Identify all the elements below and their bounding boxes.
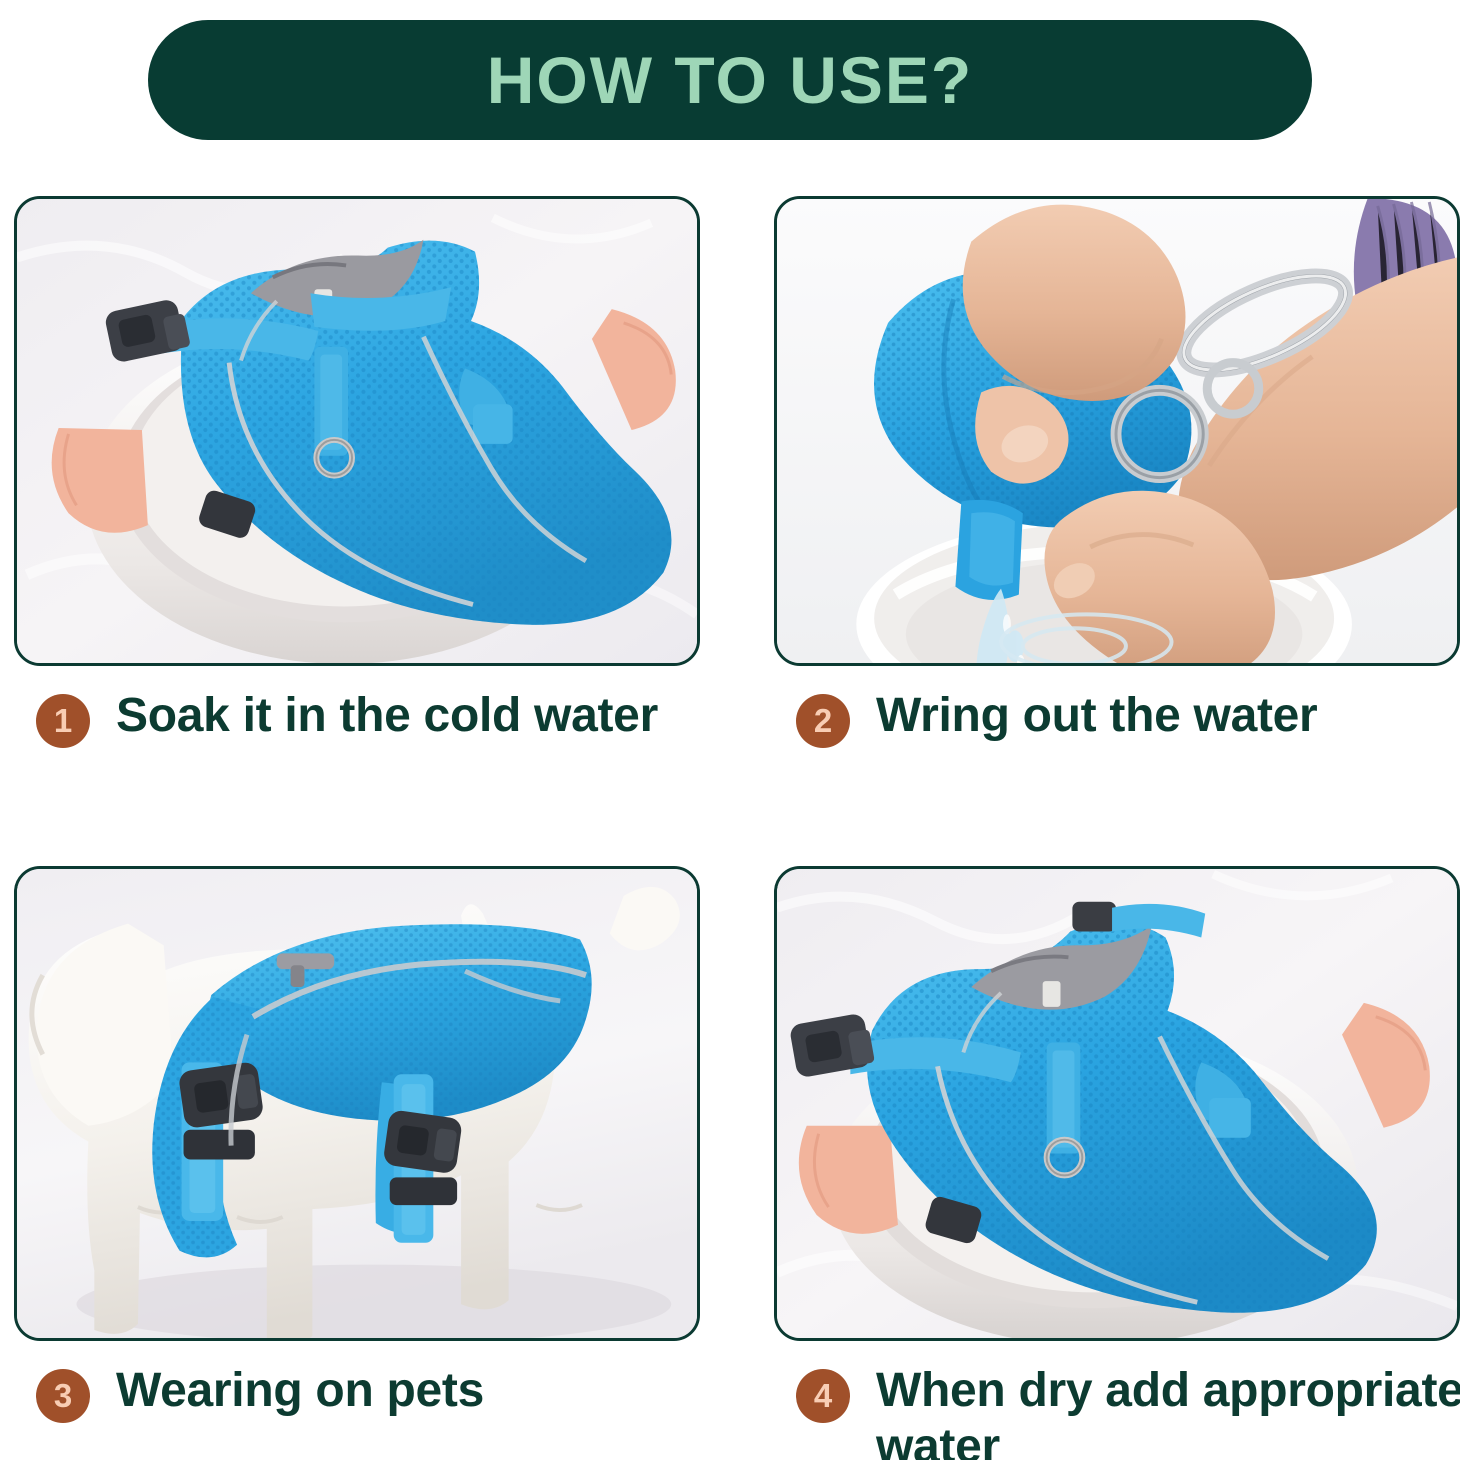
harness-in-basin-illustration: [17, 199, 697, 663]
step-3-caption-cell: 3 Wearing on pets: [14, 1341, 714, 1460]
step-4-caption-row: 4 When dry add appropriate water: [774, 1341, 1460, 1460]
step-3-caption-text: Wearing on pets: [116, 1363, 484, 1419]
step-1-photo-frame: [14, 196, 700, 666]
step-1-caption-row: 1 Soak it in the cold water: [14, 666, 714, 748]
step-3-photo-frame: [14, 866, 700, 1341]
dog-wearing-harness-illustration: [17, 869, 697, 1338]
step-3-badge: 3: [36, 1369, 90, 1423]
step-2-photo-frame: [774, 196, 1460, 666]
steps-grid: 1 Soak it in the cold water 2 Wring out …: [0, 196, 1460, 1460]
step-1-caption-cell: 1 Soak it in the cold water: [14, 666, 714, 866]
step-1-badge: 1: [36, 694, 90, 748]
step-4-photo-cell: [774, 866, 1460, 1341]
step-4-caption-cell: 4 When dry add appropriate water: [774, 1341, 1460, 1460]
infographic-page: HOW TO USE?: [0, 0, 1460, 1460]
step-1-photo-cell: [14, 196, 714, 666]
step-2-caption-cell: 2 Wring out the water: [774, 666, 1460, 866]
step-2-badge: 2: [796, 694, 850, 748]
step-4-photo-frame: [774, 866, 1460, 1341]
page-title: HOW TO USE?: [487, 47, 973, 113]
step-2-caption-row: 2 Wring out the water: [774, 666, 1460, 748]
hands-wringing-illustration: [777, 199, 1457, 663]
step-1-caption-text: Soak it in the cold water: [116, 688, 658, 744]
step-2-caption-text: Wring out the water: [876, 688, 1317, 744]
step-3-photo-cell: [14, 866, 714, 1341]
harness-in-basin-2-illustration: [777, 869, 1457, 1338]
step-3-caption-row: 3 Wearing on pets: [14, 1341, 714, 1423]
step-4-badge: 4: [796, 1369, 850, 1423]
header-banner: HOW TO USE?: [148, 20, 1312, 140]
step-4-caption-text: When dry add appropriate water: [876, 1363, 1460, 1460]
step-2-photo-cell: [774, 196, 1460, 666]
